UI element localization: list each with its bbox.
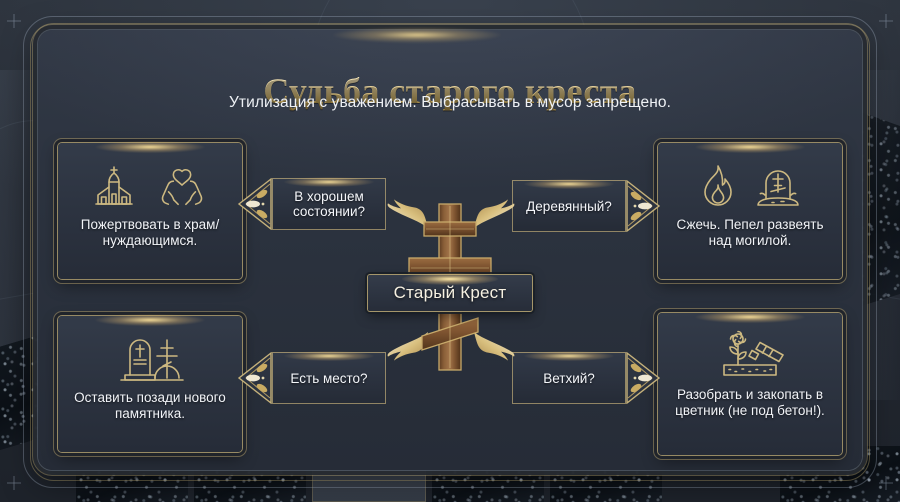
arrowhead-ornament-icon bbox=[626, 180, 662, 232]
flower-bed-with-planks-icon bbox=[704, 328, 796, 384]
outcome-box-bury-in-flowerbed[interactable]: Разобрать и закопать в цветник (не под б… bbox=[658, 313, 842, 455]
central-node-label-text: Старый Крест bbox=[394, 283, 507, 303]
decision-label-wooden: Деревянный? bbox=[520, 199, 618, 214]
monument-with-cross-icon bbox=[107, 332, 193, 386]
outcome-icons-donate bbox=[93, 155, 207, 217]
outcome-icons-bury bbox=[704, 325, 796, 387]
arrowhead-ornament-icon bbox=[626, 352, 662, 404]
arrowhead-ornament-icon bbox=[236, 178, 272, 230]
outcome-text-bury: Разобрать и закопать в цветник (не под б… bbox=[658, 387, 842, 419]
box-top-glow bbox=[95, 314, 205, 326]
arrow-body: В хорошем состоянии? bbox=[272, 178, 386, 230]
arrow-top-glow bbox=[524, 179, 614, 189]
outcome-box-donate[interactable]: Пожертвовать в храм/нуждающимся. bbox=[58, 143, 242, 279]
arrow-head-left bbox=[236, 352, 272, 404]
box-top-glow bbox=[695, 141, 805, 153]
arrow-body: Ветхий? bbox=[512, 352, 626, 404]
outcome-text-leave-behind: Оставить позади нового памятника. bbox=[58, 390, 242, 422]
arrow-head-right bbox=[626, 352, 662, 404]
decision-label-has-space: Есть место? bbox=[284, 371, 373, 386]
panel-top-glow bbox=[332, 27, 502, 43]
arrow-top-glow bbox=[524, 351, 614, 361]
decision-arrow-decayed[interactable]: Ветхий? bbox=[512, 352, 662, 404]
outcome-text-burn: Сжечь. Пепел развеять над могилой. bbox=[658, 217, 842, 249]
arrow-body: Есть место? bbox=[272, 352, 386, 404]
outcome-icons-burn bbox=[696, 155, 804, 217]
arrow-top-glow bbox=[284, 351, 374, 361]
decision-arrow-has-space[interactable]: Есть место? bbox=[236, 352, 386, 404]
grave-headstone-icon bbox=[752, 161, 804, 211]
hands-holding-heart-icon bbox=[157, 161, 207, 211]
arrow-top-glow bbox=[284, 177, 374, 187]
outcome-box-leave-behind[interactable]: Оставить позади нового памятника. bbox=[58, 316, 242, 452]
decision-label-decayed: Ветхий? bbox=[537, 371, 601, 386]
arrow-head-right bbox=[626, 180, 662, 232]
church-icon bbox=[93, 161, 145, 211]
outcome-text-donate: Пожертвовать в храм/нуждающимся. bbox=[58, 217, 242, 249]
arrow-head-left bbox=[236, 178, 272, 230]
outcome-icons-leave-behind bbox=[107, 328, 193, 390]
central-node-label[interactable]: Старый Крест bbox=[368, 275, 532, 311]
page-subtitle: Утилизация с уважением. Выбрасывать в му… bbox=[0, 94, 900, 112]
decision-label-good-condition: В хорошем состоянии? bbox=[272, 189, 386, 219]
arrowhead-ornament-icon bbox=[236, 352, 272, 404]
decision-arrow-wooden[interactable]: Деревянный? bbox=[512, 180, 662, 232]
outcome-box-burn[interactable]: Сжечь. Пепел развеять над могилой. bbox=[658, 143, 842, 279]
box-top-glow bbox=[95, 141, 205, 153]
flame-icon bbox=[696, 161, 740, 211]
arrow-body: Деревянный? bbox=[512, 180, 626, 232]
box-top-glow bbox=[695, 311, 805, 323]
decision-arrow-good-condition[interactable]: В хорошем состоянии? bbox=[236, 178, 386, 230]
